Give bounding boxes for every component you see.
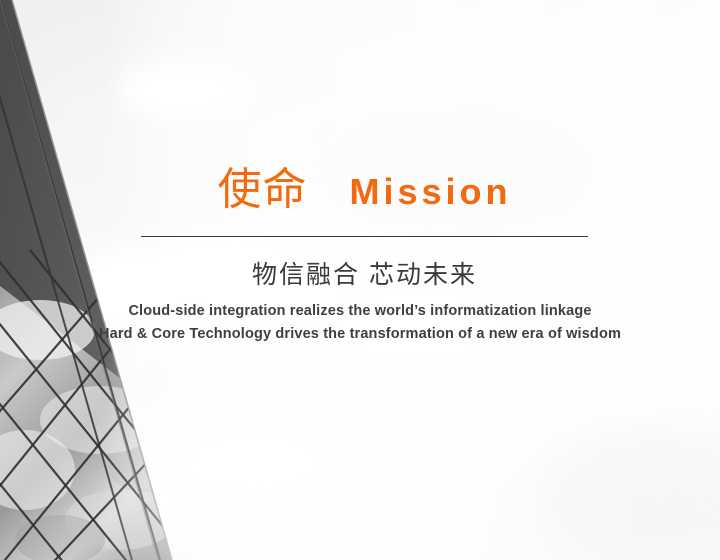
hero-body-line-1: Cloud-side integration realizes the worl… — [60, 300, 660, 323]
heading-english: Mission — [349, 174, 511, 210]
heading-chinese: 使命 — [217, 168, 307, 212]
hero-subtitle: 物信融合 芯动未来 — [141, 258, 588, 292]
hero-heading: 使命 Mission — [141, 168, 588, 212]
mission-hero-banner: 使命 Mission 物信融合 芯动未来 Cloud-side integrat… — [0, 0, 720, 560]
hero-body: Cloud-side integration realizes the worl… — [60, 300, 660, 346]
hero-content: 使命 Mission 物信融合 芯动未来 Cloud-side integrat… — [0, 0, 720, 560]
hero-body-line-2: Hard & Core Technology drives the transf… — [60, 323, 660, 346]
heading-divider — [141, 236, 588, 237]
